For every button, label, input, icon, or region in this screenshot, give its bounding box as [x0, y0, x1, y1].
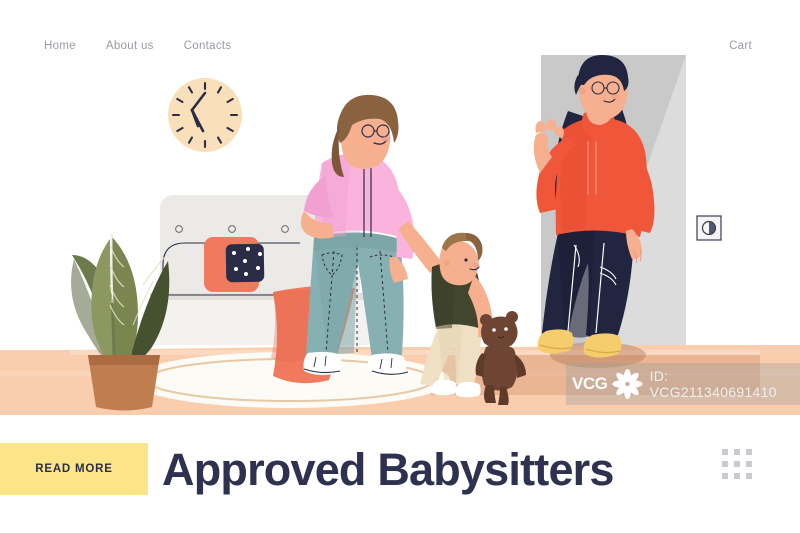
read-more-label: READ MORE	[35, 463, 112, 475]
grid-dot	[746, 473, 752, 479]
grid-dot	[746, 449, 752, 455]
grid-dot	[746, 461, 752, 467]
nav-item-about-us[interactable]: About us	[106, 38, 154, 54]
light-switch-icon	[697, 216, 721, 240]
nav-item-contacts[interactable]: Contacts	[184, 38, 232, 54]
hero-illustration	[0, 55, 800, 415]
grid-dot	[734, 461, 740, 467]
wall-clock-icon	[168, 78, 242, 152]
nav-item-home[interactable]: Home	[44, 38, 76, 54]
landing-page: Home About us Contacts Cart 03	[0, 0, 800, 533]
decorative-dot-grid	[722, 449, 752, 479]
page-title: Approved Babysitters	[162, 440, 722, 498]
page-title-text: Approved Babysitters	[162, 447, 614, 492]
nav-item-cart[interactable]: Cart	[729, 38, 752, 54]
grid-dot	[722, 473, 728, 479]
nav-links: Home About us Contacts	[44, 38, 231, 54]
grid-dot	[734, 473, 740, 479]
grid-dot	[722, 461, 728, 467]
grid-dot	[734, 449, 740, 455]
grid-dot	[722, 449, 728, 455]
read-more-button[interactable]: READ MORE	[0, 443, 148, 495]
